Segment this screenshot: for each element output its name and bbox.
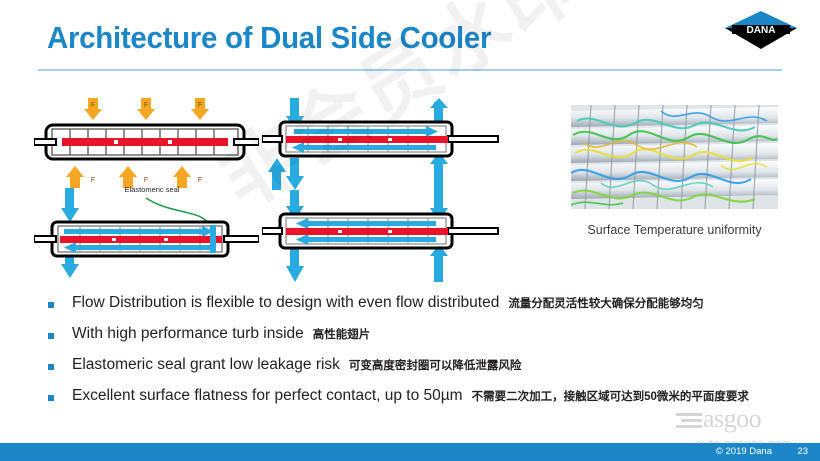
inlet-arrow-left: [61, 188, 79, 222]
bullet-square-icon: [48, 302, 54, 308]
core-red: [286, 136, 448, 143]
footer-bar: © 2019 Dana 23: [0, 443, 820, 461]
elastomeric-seal-callout-label: Elastomeric seal: [124, 185, 179, 194]
force-arrow-group-top: F F F: [84, 98, 209, 120]
cooler-body: [262, 214, 498, 248]
diagram-counter-flow: [262, 98, 512, 193]
cfd-result-block: Surface Temperature uniformity: [571, 105, 778, 240]
bullet-text-en: With high performance turb inside: [72, 325, 304, 343]
bullet-text-en: Elastomeric seal grant low leakage risk: [72, 356, 340, 374]
cfd-caption: Surface Temperature uniformity: [571, 223, 778, 237]
dana-logo: DANA: [722, 8, 800, 52]
cooler-body: [34, 125, 259, 159]
core-red: [286, 228, 448, 235]
page-number: 23: [797, 446, 808, 457]
bullet-text-cn: 流量分配灵活性较大确保分配能够均匀: [508, 295, 704, 311]
list-item: Excellent surface flatness for perfect c…: [46, 387, 806, 418]
elastomeric-seal-element: [210, 225, 216, 253]
bullet-list: Flow Distribution is flexible to design …: [46, 294, 806, 418]
bullet-text-en: Flow Distribution is flexible to design …: [72, 294, 499, 312]
diagram-elastomeric-seal: Elastomeric seal: [34, 178, 259, 283]
bullet-square-icon: [48, 333, 54, 339]
dana-logo-text: DANA: [747, 25, 776, 36]
page-title: Architecture of Dual Side Cooler: [47, 20, 491, 56]
bullet-text-cn: 高性能翅片: [313, 326, 371, 342]
gasgoo-logo-bar: [676, 425, 702, 428]
bullet-text-cn: 可变高度密封圈可以降低泄露风险: [349, 357, 522, 373]
list-item: With high performance turb inside 高性能翅片: [46, 325, 806, 356]
cooler-body: [262, 122, 498, 156]
svg-text:F: F: [144, 102, 148, 109]
list-item: Elastomeric seal grant low leakage risk …: [46, 356, 806, 387]
bullet-text-en: Excellent surface flatness for perfect c…: [72, 387, 463, 405]
cfd-thermal-image: [571, 105, 778, 209]
core-red: [62, 138, 228, 146]
core-red: [60, 236, 222, 243]
diagram-clamping-force: F F F: [34, 98, 259, 188]
copyright-text: © 2019 Dana: [716, 446, 772, 457]
svg-text:F: F: [91, 102, 95, 109]
bullet-square-icon: [48, 364, 54, 370]
diagram-parallel-flow: [262, 190, 512, 290]
bullet-square-icon: [48, 395, 54, 401]
list-item: Flow Distribution is flexible to design …: [46, 294, 806, 325]
gasgoo-logo-bar: [681, 419, 702, 422]
title-divider: [38, 69, 782, 71]
bullet-text-cn: 不需要二次加工，接触区域可达到50微米的平面度要求: [472, 388, 749, 404]
svg-text:F: F: [198, 102, 202, 109]
cooler-body: [34, 222, 259, 256]
